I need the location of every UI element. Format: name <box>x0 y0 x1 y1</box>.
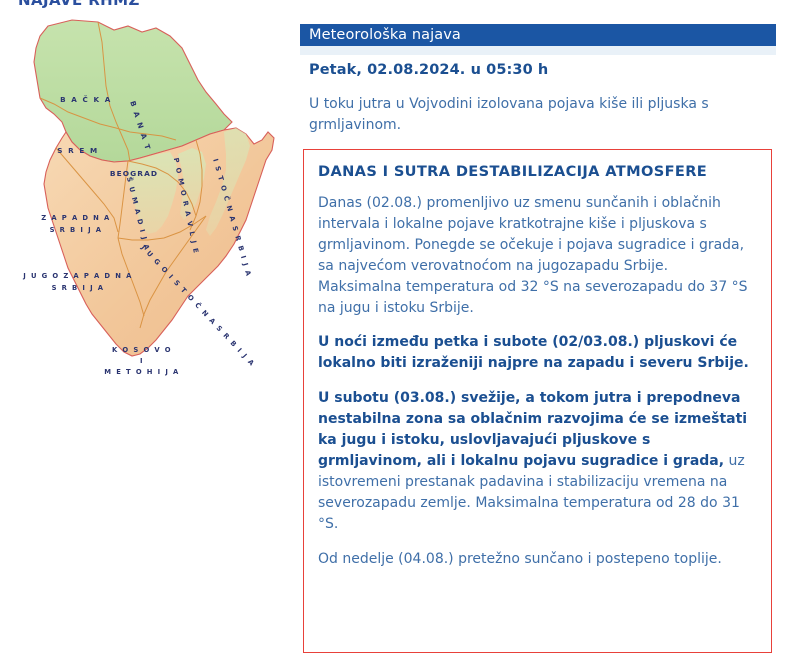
svg-text:Z A P A D N A: Z A P A D N A <box>41 214 110 222</box>
map-label-beograd: BEOGRAD <box>110 169 158 178</box>
warning-box: DANAS I SUTRA DESTABILIZACIJA ATMOSFERE … <box>303 149 772 653</box>
svg-text:J U G O Z A P A D N A: J U G O Z A P A D N A <box>22 272 133 280</box>
warning-paragraph-3-bold: U subotu (03.08.) svežije, a tokom jutra… <box>318 390 747 469</box>
warning-paragraph-3: U subotu (03.08.) svežije, a tokom jutra… <box>318 388 754 535</box>
forecast-intro: U toku jutra u Vojvodini izolovana pojav… <box>309 94 772 136</box>
panel-header-underline <box>300 46 776 55</box>
panel-header-title: Meteorološka najava <box>300 24 776 46</box>
map-label-srem: S R E M <box>57 146 98 155</box>
svg-text:I: I <box>140 357 144 365</box>
serbia-map: B A Č K A B A N A T S R E M BEOGRAD Z A … <box>10 18 286 438</box>
warning-paragraph-1: Danas (02.08.) promenljivo uz smenu sunč… <box>318 193 754 277</box>
warning-title: DANAS I SUTRA DESTABILIZACIJA ATMOSFERE <box>318 163 754 180</box>
svg-text:S R B I J A: S R B I J A <box>50 226 103 234</box>
warning-paragraph-4: Od nedelje (04.08.) pretežno sunčano i p… <box>318 549 754 570</box>
svg-text:M E T O H I J A: M E T O H I J A <box>104 368 179 376</box>
svg-text:K O S O V O: K O S O V O <box>112 346 172 354</box>
warning-paragraph-2: U noći između petka i subote (02/03.08.)… <box>318 332 754 374</box>
map-label-backa: B A Č K A <box>60 95 112 104</box>
warning-paragraph-1b: Maksimalna temperatura od 32 °S na sever… <box>318 277 754 319</box>
page-layout: B A Č K A B A N A T S R E M BEOGRAD Z A … <box>0 0 790 662</box>
forecast-panel: Meteorološka najava Petak, 02.08.2024. u… <box>296 0 790 662</box>
forecast-date: Petak, 02.08.2024. u 05:30 h <box>309 62 548 78</box>
map-label-kosovo-i-metohija: K O S O V O I M E T O H I J A <box>104 346 179 376</box>
svg-text:S R B I J A: S R B I J A <box>52 284 105 292</box>
map-column: B A Č K A B A N A T S R E M BEOGRAD Z A … <box>0 0 296 662</box>
